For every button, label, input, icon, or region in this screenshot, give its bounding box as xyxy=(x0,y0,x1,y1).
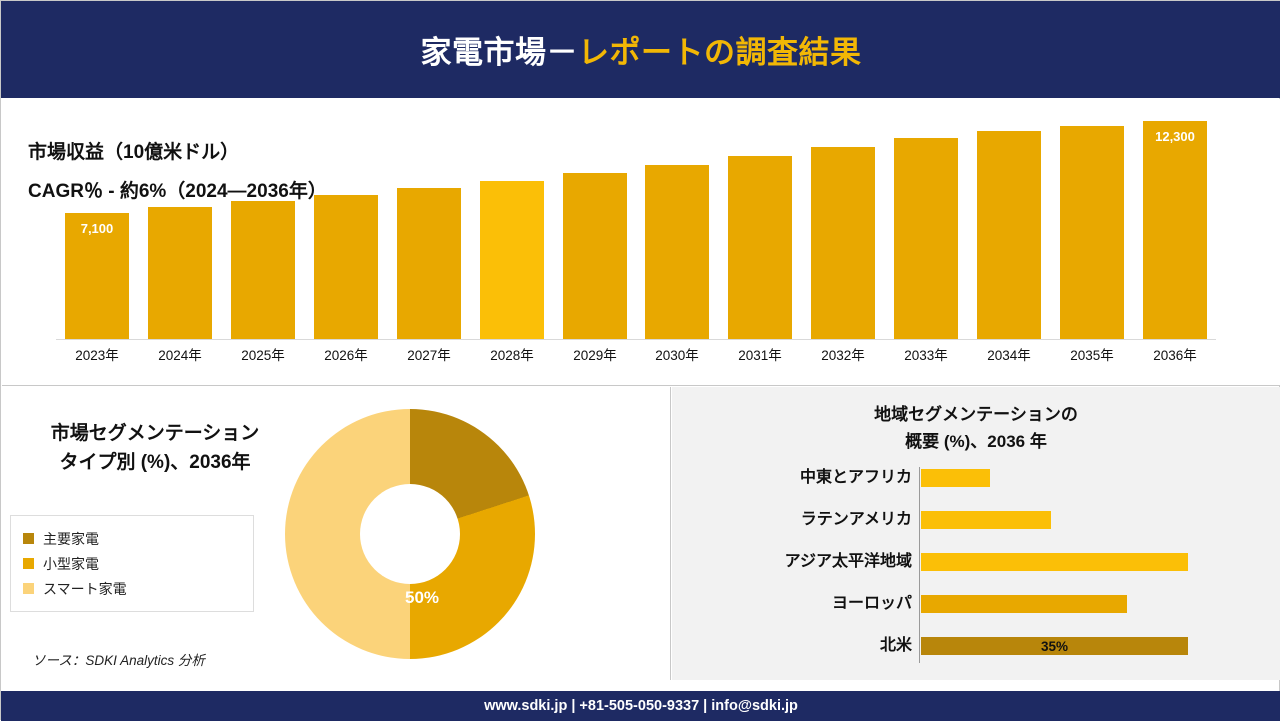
regional-bar-label: アジア太平洋地域 xyxy=(672,551,912,573)
source-note: ソース：SDKI Analytics 分析 xyxy=(32,649,205,669)
regional-bar-label: ラテンアメリカ xyxy=(672,509,912,531)
revenue-x-label: 2034年 xyxy=(977,344,1041,364)
page-header: 家電市場－レポートの調査結果 xyxy=(1,1,1280,98)
regional-bar-row: 北米35% xyxy=(672,635,1280,657)
donut-hole: 50% xyxy=(360,484,460,584)
legend-swatch-icon xyxy=(23,558,34,569)
regional-bar-row: アジア太平洋地域 xyxy=(672,551,1280,573)
revenue-bar-column xyxy=(397,188,461,339)
page-footer: www.sdki.jp | +81-505-050-9337 | info@sd… xyxy=(1,691,1280,721)
revenue-bar-column xyxy=(645,165,709,339)
regional-bar xyxy=(921,511,1051,529)
revenue-bar xyxy=(1060,126,1124,339)
legend-item: 主要家電 xyxy=(23,526,243,551)
regional-bar xyxy=(921,469,990,487)
revenue-bar xyxy=(563,173,627,339)
revenue-bar xyxy=(977,131,1041,339)
revenue-bar xyxy=(728,156,792,339)
regional-bar xyxy=(921,553,1188,571)
donut-ring: 50% xyxy=(285,409,535,659)
revenue-x-label: 2030年 xyxy=(645,344,709,364)
page-title: 家電市場－レポートの調査結果 xyxy=(421,27,862,72)
revenue-x-label: 2023年 xyxy=(65,344,129,364)
revenue-bar xyxy=(645,165,709,339)
type-segmentation-section: 市場セグメンテーション タイプ別 (%)、2036年 主要家電小型家電スマート家… xyxy=(2,387,671,680)
regional-bar: 35% xyxy=(921,637,1188,655)
revenue-bar: 7,100 xyxy=(65,213,129,339)
revenue-bar-column xyxy=(728,156,792,339)
revenue-bar-column xyxy=(811,147,875,339)
legend-item: 小型家電 xyxy=(23,551,243,576)
revenue-x-label: 2025年 xyxy=(231,344,295,364)
revenue-bar xyxy=(231,201,295,339)
revenue-x-label: 2027年 xyxy=(397,344,461,364)
type-segmentation-title: 市場セグメンテーション タイプ別 (%)、2036年 xyxy=(20,419,290,478)
legend-swatch-icon xyxy=(23,583,34,594)
footer-contact: www.sdki.jp | +81-505-050-9337 | info@sd… xyxy=(484,698,798,714)
legend-item: スマート家電 xyxy=(23,576,243,601)
regional-bar xyxy=(921,595,1127,613)
revenue-x-label: 2028年 xyxy=(480,344,544,364)
revenue-x-label: 2031年 xyxy=(728,344,792,364)
type-segmentation-donut: 50% xyxy=(285,409,535,659)
legend-item-label: 主要家電 xyxy=(43,529,99,549)
regional-bar-plot: 中東とアフリカラテンアメリカアジア太平洋地域ヨーロッパ北米35% xyxy=(672,467,1280,667)
legend-item-label: スマート家電 xyxy=(43,579,127,599)
legend-swatch-icon xyxy=(23,533,34,544)
revenue-bar-column xyxy=(148,207,212,339)
regional-segmentation-section: 地域セグメンテーションの 概要 (%)、2036 年 中東とアフリカラテンアメリ… xyxy=(672,387,1280,680)
revenue-bar: 12,300 xyxy=(1143,121,1207,339)
revenue-bar xyxy=(480,181,544,339)
regional-segmentation-title: 地域セグメンテーションの 概要 (%)、2036 年 xyxy=(756,401,1196,455)
type-segmentation-title-line1: 市場セグメンテーション xyxy=(20,419,290,448)
revenue-baseline xyxy=(56,339,1216,340)
revenue-bar-plot: 7,10012,300 xyxy=(56,109,1216,339)
revenue-bar-column xyxy=(1060,126,1124,339)
regional-bar-row: 中東とアフリカ xyxy=(672,467,1280,489)
type-segmentation-legend: 主要家電小型家電スマート家電 xyxy=(10,515,254,612)
revenue-bar-column xyxy=(314,195,378,339)
revenue-bar xyxy=(314,195,378,339)
revenue-x-label: 2036年 xyxy=(1143,344,1207,364)
revenue-bar-value: 7,100 xyxy=(65,221,129,236)
revenue-bar-column: 7,100 xyxy=(65,213,129,339)
revenue-bar-column xyxy=(480,181,544,339)
legend-item-label: 小型家電 xyxy=(43,554,99,574)
revenue-bar-column xyxy=(894,138,958,339)
donut-center-label: 50% xyxy=(384,588,460,608)
revenue-chart-section: 市場収益（10億米ドル） CAGR％ - 約6%（2024―2036年） 7,1… xyxy=(2,99,1280,386)
revenue-x-axis-labels: 2023年2024年2025年2026年2027年2028年2029年2030年… xyxy=(56,344,1216,370)
regional-bar-row: ラテンアメリカ xyxy=(672,509,1280,531)
revenue-bar-column: 12,300 xyxy=(1143,121,1207,339)
revenue-x-label: 2032年 xyxy=(811,344,875,364)
revenue-bar xyxy=(148,207,212,339)
type-segmentation-title-line2: タイプ別 (%)、2036年 xyxy=(20,448,290,477)
regional-bar-value: 35% xyxy=(921,639,1188,654)
revenue-bar-column xyxy=(563,173,627,339)
revenue-x-label: 2035年 xyxy=(1060,344,1124,364)
revenue-bar xyxy=(894,138,958,339)
regional-title-line1: 地域セグメンテーションの xyxy=(756,401,1196,428)
page-title-accent: レポートの調査結果 xyxy=(578,35,862,70)
page-title-main: 家電市場－ xyxy=(421,35,579,70)
revenue-x-label: 2033年 xyxy=(894,344,958,364)
report-page: 家電市場－レポートの調査結果 市場収益（10億米ドル） CAGR％ - 約6%（… xyxy=(0,0,1280,720)
revenue-x-label: 2026年 xyxy=(314,344,378,364)
regional-title-line2: 概要 (%)、2036 年 xyxy=(756,428,1196,455)
revenue-bar-column xyxy=(231,201,295,339)
revenue-bar-column xyxy=(977,131,1041,339)
revenue-x-label: 2029年 xyxy=(563,344,627,364)
revenue-bar-value: 12,300 xyxy=(1143,129,1207,144)
revenue-x-label: 2024年 xyxy=(148,344,212,364)
revenue-bar xyxy=(811,147,875,339)
revenue-bar xyxy=(397,188,461,339)
regional-bar-label: ヨーロッパ xyxy=(672,593,912,615)
regional-bar-label: 北米 xyxy=(672,635,912,657)
regional-bar-label: 中東とアフリカ xyxy=(672,467,912,489)
regional-bar-row: ヨーロッパ xyxy=(672,593,1280,615)
